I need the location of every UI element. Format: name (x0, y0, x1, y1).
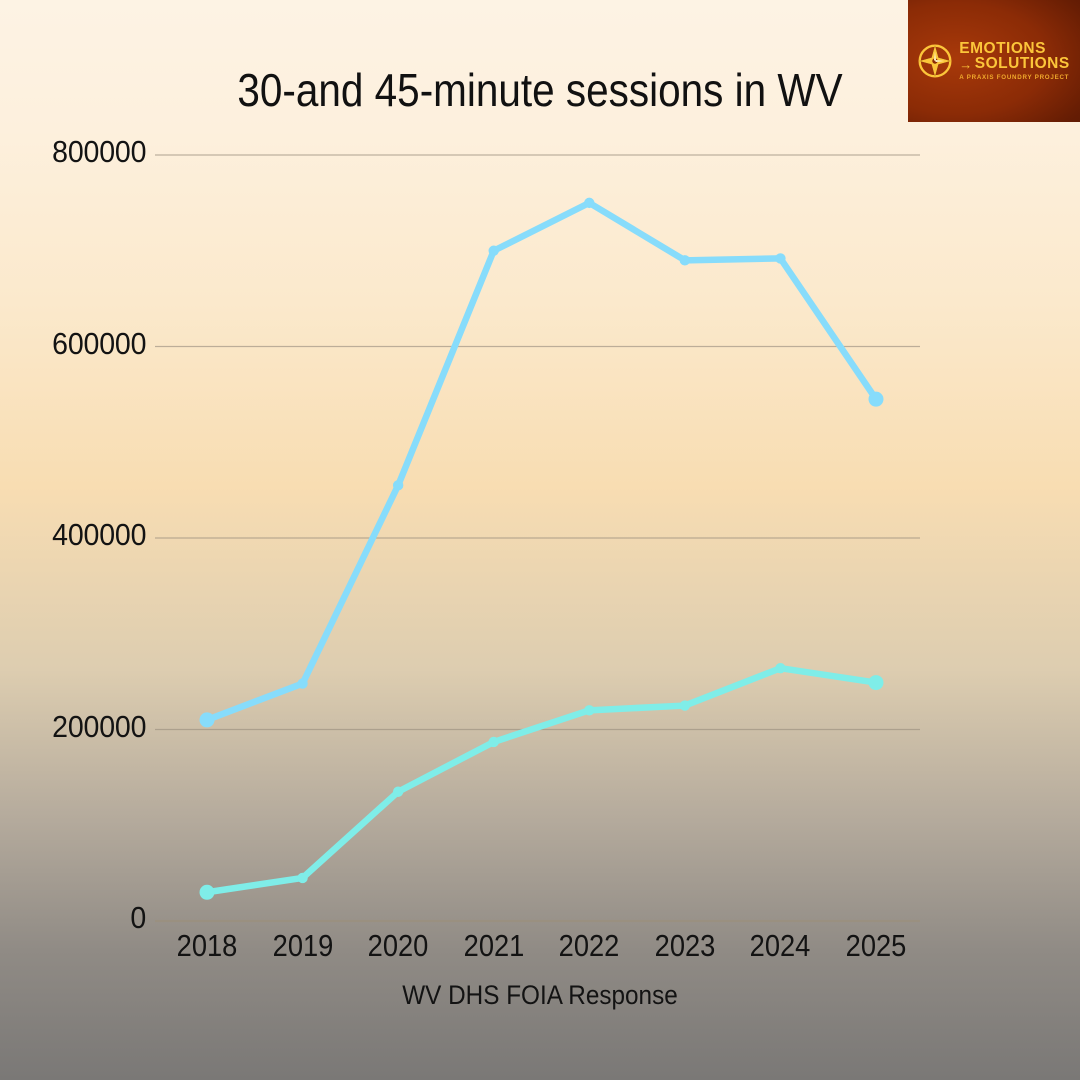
x-axis-title: WV DHS FOIA Response (54, 980, 1026, 1011)
series-line (207, 668, 876, 892)
data-point-marker (584, 705, 594, 715)
data-series-group (200, 198, 884, 900)
chart-canvas: 0200000400000600000800000 20182019202020… (0, 0, 1080, 1080)
y-axis-tick-label: 0 (130, 900, 146, 936)
data-point-marker (775, 663, 785, 673)
line-chart-plot (0, 0, 1080, 1080)
x-axis-tick-label: 2021 (463, 928, 524, 964)
x-axis-tick-label: 2022 (559, 928, 620, 964)
x-axis-tick-label: 2024 (750, 928, 811, 964)
logo-line-2-row: → SOLUTIONS (959, 56, 1069, 72)
y-axis-tick: 0 (0, 900, 146, 936)
y-axis-tick-label: 400000 (52, 517, 146, 553)
data-point-marker (584, 198, 594, 208)
y-axis-tick-label: 600000 (52, 326, 146, 362)
logo-subtitle: A PRAXIS FOUNDRY PROJECT (959, 75, 1069, 81)
logo-line-1: EMOTIONS (959, 41, 1069, 57)
x-axis-tick-label: 2020 (368, 928, 429, 964)
data-point-marker (680, 700, 690, 710)
y-axis-tick: 200000 (0, 709, 146, 745)
compass-star-icon (918, 44, 952, 78)
data-point-marker (393, 480, 403, 490)
data-point-marker (297, 678, 307, 688)
x-axis-tick-label: 2019 (272, 928, 333, 964)
y-axis-tick: 600000 (0, 326, 146, 362)
data-point-marker (297, 873, 307, 883)
gridlines-group (155, 155, 920, 921)
chart-title: 30-and 45-minute sessions in WV (65, 63, 1015, 117)
data-point-marker (200, 885, 215, 900)
logo-line-2: SOLUTIONS (975, 56, 1070, 72)
data-point-marker (489, 737, 499, 747)
data-point-marker (869, 675, 884, 690)
x-axis-tick-label: 2023 (654, 928, 715, 964)
data-point-marker (393, 787, 403, 797)
arrow-right-icon: → (959, 58, 973, 71)
data-point-marker (869, 392, 884, 407)
data-point-marker (775, 253, 785, 263)
x-axis-tick-label: 2018 (177, 928, 238, 964)
brand-logo-badge: EMOTIONS → SOLUTIONS A PRAXIS FOUNDRY PR… (908, 0, 1080, 122)
x-axis-tick-label: 2025 (846, 928, 907, 964)
data-point-marker (680, 255, 690, 265)
y-axis-tick-label: 800000 (52, 134, 146, 170)
y-axis-tick-label: 200000 (52, 709, 146, 745)
y-axis-tick: 800000 (0, 134, 146, 170)
data-point-marker (489, 246, 499, 256)
data-point-marker (200, 712, 215, 727)
series-line (207, 203, 876, 720)
y-axis-tick: 400000 (0, 517, 146, 553)
